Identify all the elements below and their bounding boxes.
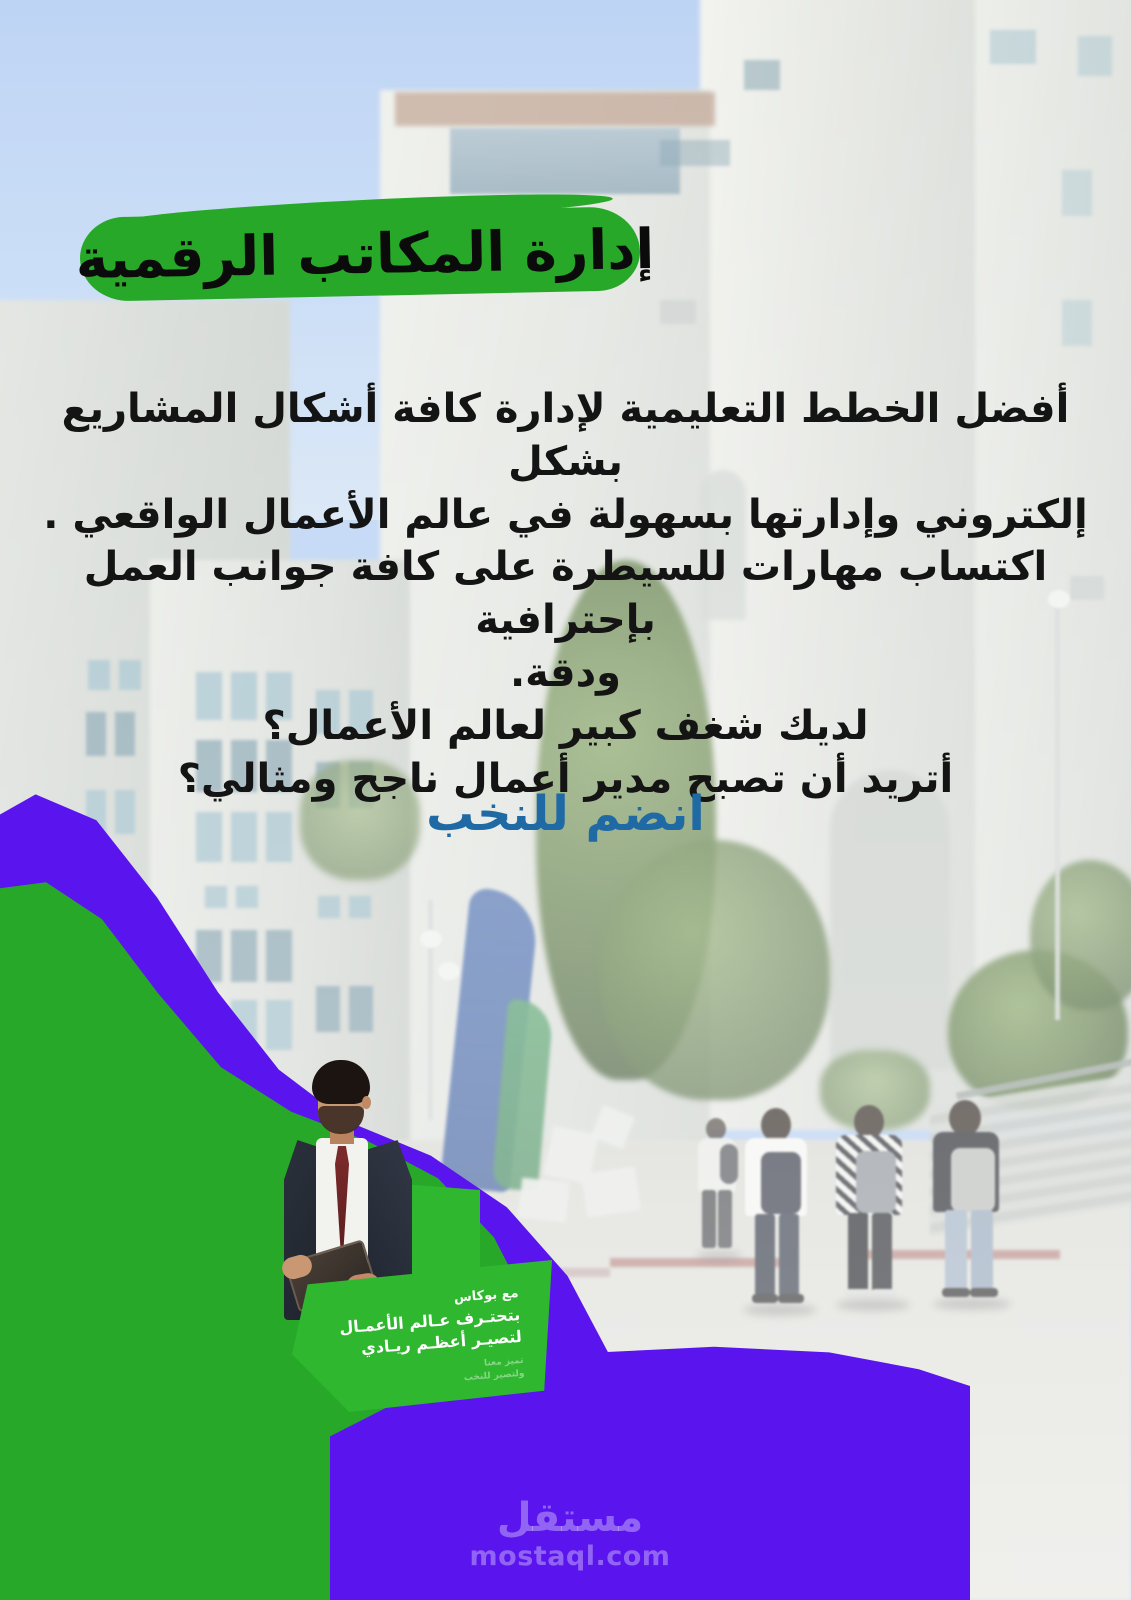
poster-canvas: مع بوكاس بتحتـرف عـالم الأعمـال لتصيـر أ… bbox=[0, 0, 1131, 1600]
window-row bbox=[990, 30, 1036, 64]
cta-text: انضم للنخب bbox=[0, 786, 1131, 842]
body-line-1: أفضل الخطط التعليمية لإدارة كافة أشكال ا… bbox=[20, 383, 1111, 489]
window-row bbox=[205, 886, 258, 908]
building-center-glass-band bbox=[450, 128, 680, 194]
lamp-head bbox=[420, 930, 442, 948]
student-figure bbox=[828, 1105, 920, 1305]
student-figure bbox=[735, 1108, 825, 1308]
window-row bbox=[1062, 170, 1092, 216]
green-card-text-block: مع بوكاس بتحتـرف عـالم الأعمـال لتصيـر أ… bbox=[289, 1286, 525, 1398]
title-text: إدارة المكاتب الرقمية bbox=[69, 191, 661, 317]
building-center-roof bbox=[395, 92, 715, 126]
body-line-3: اكتساب مهارات للسيطرة على كافة جوانب الع… bbox=[20, 541, 1111, 647]
beard bbox=[318, 1106, 364, 1134]
window-row bbox=[660, 140, 730, 166]
body-line-2: إلكتروني وإدارتها بسهولة في عالم الأعمال… bbox=[20, 489, 1111, 542]
poster-title: إدارة المكاتب الرقمية bbox=[70, 196, 660, 312]
lamp-head bbox=[438, 962, 460, 980]
body-copy-block: أفضل الخطط التعليمية لإدارة كافة أشكال ا… bbox=[20, 383, 1111, 805]
window-row bbox=[196, 930, 292, 982]
window-row bbox=[1062, 300, 1092, 346]
question-line-1: لديك شغف كبير لعالم الأعمال؟ bbox=[20, 700, 1111, 753]
body-line-4: ودقة. bbox=[20, 647, 1111, 700]
window-row bbox=[1078, 36, 1112, 76]
campus-sculpture-white bbox=[581, 1166, 641, 1217]
hair bbox=[312, 1060, 370, 1104]
ac-unit bbox=[660, 300, 696, 324]
student-figure-distant bbox=[690, 1118, 746, 1268]
student-figure bbox=[925, 1100, 1017, 1305]
window-row bbox=[744, 60, 780, 90]
campus-sculpture-white bbox=[518, 1178, 570, 1223]
window-row bbox=[318, 896, 371, 918]
window-row bbox=[316, 986, 373, 1032]
ear bbox=[362, 1096, 371, 1109]
tree-mid bbox=[600, 840, 830, 1100]
